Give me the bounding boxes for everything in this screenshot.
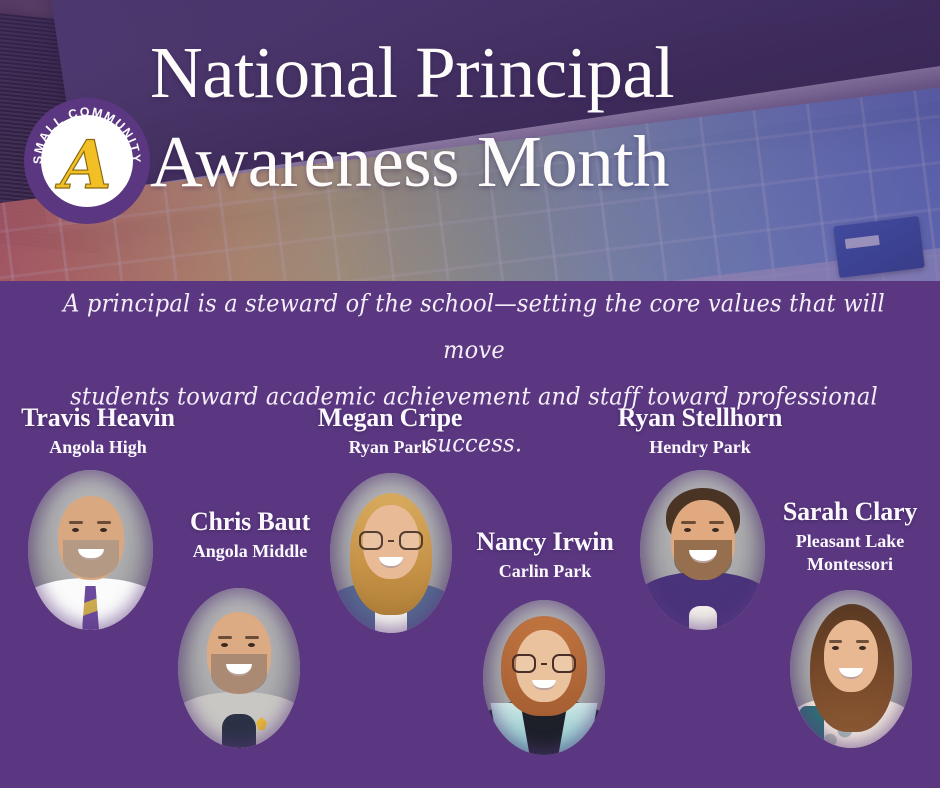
photo-feather-edge bbox=[790, 590, 912, 748]
principal-name: Nancy Irwin bbox=[450, 528, 640, 555]
principal-name: Ryan Stellhorn bbox=[600, 404, 800, 431]
principal-school: Angola Middle bbox=[160, 540, 340, 563]
photo-feather-edge bbox=[330, 473, 452, 633]
poster-title: National Principal Awareness Month bbox=[150, 36, 940, 198]
principal-label: Sarah Clary Pleasant Lake Montessori bbox=[760, 498, 940, 575]
principal-label: Nancy Irwin Carlin Park bbox=[450, 528, 640, 583]
principal-photo bbox=[790, 590, 912, 748]
principal-photo bbox=[330, 473, 452, 633]
principal-photo bbox=[178, 588, 300, 748]
school-district-logo: SMALL COMMUNITY BIG OPPORTUNITIES A bbox=[22, 96, 152, 226]
photo-feather-edge bbox=[483, 600, 605, 755]
principal-name: Chris Baut bbox=[160, 508, 340, 535]
logo-monogram-a: A bbox=[54, 126, 111, 204]
quote-line-1: A principal is a steward of the school—s… bbox=[48, 282, 900, 375]
principal-photo bbox=[483, 600, 605, 755]
poster-root: SMALL COMMUNITY BIG OPPORTUNITIES A Nati… bbox=[0, 0, 940, 788]
principal-photo bbox=[28, 470, 153, 630]
principal-name: Megan Cripe bbox=[300, 404, 480, 431]
principal-label: Megan Cripe Ryan Park bbox=[300, 404, 480, 459]
photo-feather-edge bbox=[178, 588, 300, 748]
principal-school: Angola High bbox=[8, 436, 188, 459]
principal-label: Ryan Stellhorn Hendry Park bbox=[600, 404, 800, 459]
principal-name: Sarah Clary bbox=[760, 498, 940, 525]
principal-school: Hendry Park bbox=[600, 436, 800, 459]
principal-label: Chris Baut Angola Middle bbox=[160, 508, 340, 563]
principal-name: Travis Heavin bbox=[8, 404, 188, 431]
principal-school: Pleasant Lake Montessori bbox=[760, 530, 940, 575]
principal-label: Travis Heavin Angola High bbox=[8, 404, 188, 459]
principal-photo bbox=[640, 470, 765, 630]
photo-feather-edge bbox=[640, 470, 765, 630]
principal-school: Ryan Park bbox=[300, 436, 480, 459]
photo-feather-edge bbox=[28, 470, 153, 630]
principal-school: Carlin Park bbox=[450, 560, 640, 583]
title-line-1: National Principal bbox=[150, 36, 940, 109]
quote-band: A principal is a steward of the school—s… bbox=[0, 281, 940, 391]
title-line-2: Awareness Month bbox=[150, 125, 940, 198]
